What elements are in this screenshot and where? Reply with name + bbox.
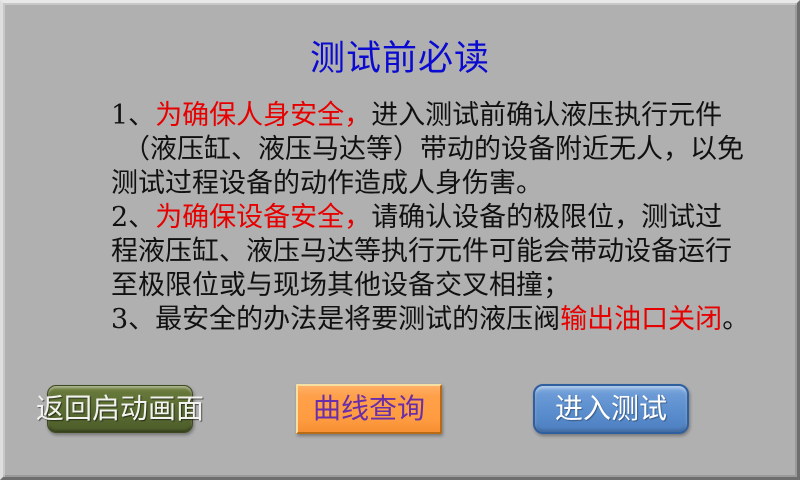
notice-line-1-segment-3: 进入测试前确认液压执行元件 <box>371 100 722 131</box>
enter-test-button[interactable]: 进入测试 <box>533 384 689 434</box>
notice-line-7: 3、最安全的办法是将要测试的液压阀输出油口关闭。 <box>111 303 711 337</box>
page-title: 测试前必读 <box>3 39 797 79</box>
notice-line-7-segment-3: 。 <box>722 304 749 335</box>
notice-line-7-segment-1: 3、最安全的办法是将要测试的液压阀 <box>111 304 560 335</box>
curve-query-button-label: 曲线查询 <box>313 395 425 423</box>
notice-line-5-segment-1: 程液压缸、液压马达等执行元件可能会带动设备运行 <box>111 236 732 267</box>
return-to-startup-button-label: 返回启动画面 <box>36 395 204 423</box>
notice-line-1-segment-1: 1、 <box>111 100 155 131</box>
notice-line-2-segment-1: （液压缸、液压马达等）带动的设备附近无人，以免 <box>123 134 744 165</box>
notice-line-1-segment-2: 为确保人身安全， <box>155 100 371 131</box>
safety-notice-block: 1、为确保人身安全，进入测试前确认液压执行元件（液压缸、液压马达等）带动的设备附… <box>111 99 711 337</box>
notice-line-4-segment-3: 请确认设备的极限位，测试过 <box>371 202 722 233</box>
notice-line-7-segment-2: 输出油口关闭 <box>560 304 722 335</box>
notice-line-3-segment-1: 测试过程设备的动作造成人身伤害。 <box>111 168 543 199</box>
curve-query-button[interactable]: 曲线查询 <box>296 384 442 434</box>
notice-line-4-segment-1: 2、 <box>111 202 155 233</box>
notice-line-6-segment-1: 至极限位或与现场其他设备交叉相撞； <box>111 270 570 301</box>
notice-line-5: 程液压缸、液压马达等执行元件可能会带动设备运行 <box>111 235 711 269</box>
hmi-screen: 测试前必读 1、为确保人身安全，进入测试前确认液压执行元件（液压缸、液压马达等）… <box>0 0 800 480</box>
enter-test-button-label: 进入测试 <box>555 395 667 423</box>
notice-line-3: 测试过程设备的动作造成人身伤害。 <box>111 167 711 201</box>
return-to-startup-button[interactable]: 返回启动画面 <box>47 385 193 433</box>
notice-line-1: 1、为确保人身安全，进入测试前确认液压执行元件 <box>111 99 711 133</box>
notice-line-6: 至极限位或与现场其他设备交叉相撞； <box>111 269 711 303</box>
notice-line-2: （液压缸、液压马达等）带动的设备附近无人，以免 <box>111 133 711 167</box>
notice-line-4: 2、为确保设备安全，请确认设备的极限位，测试过 <box>111 201 711 235</box>
notice-line-4-segment-2: 为确保设备安全， <box>155 202 371 233</box>
